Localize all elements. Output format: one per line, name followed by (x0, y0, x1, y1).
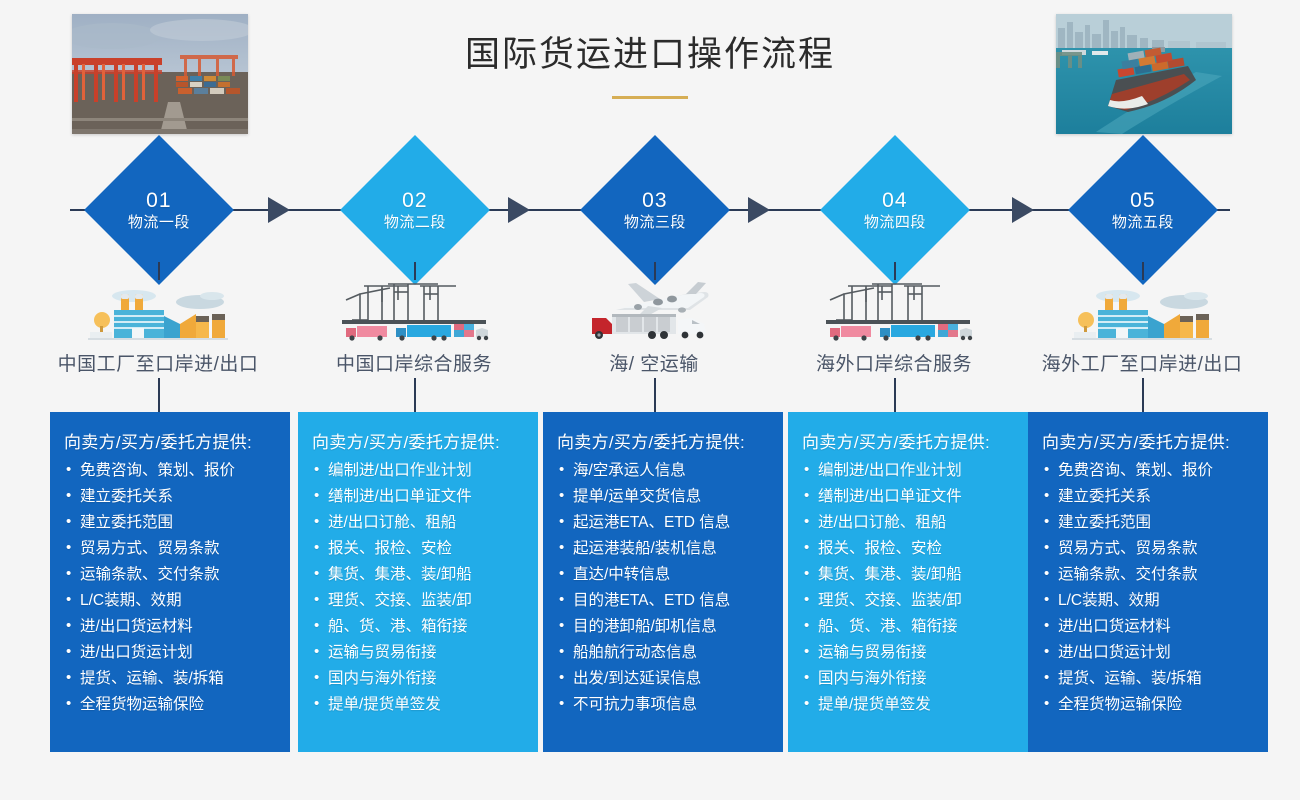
stem-lower-04 (894, 378, 896, 412)
stage-segment: 物流五段 (1112, 214, 1174, 232)
stage-segment: 物流二段 (384, 214, 446, 232)
list-item: 编制进/出口作业计划 (802, 463, 1016, 479)
factory-icon (1072, 280, 1212, 342)
header: 国际货运进口操作流程 (0, 0, 1300, 150)
factory-icon (88, 280, 228, 342)
list-item: 报关、报检、安检 (802, 541, 1016, 557)
list-item: 直达/中转信息 (557, 567, 771, 583)
detail-panel-04[interactable]: 向卖方/买方/委托方提供: 编制进/出口作业计划 缮制进/出口单证文件 进/出口… (788, 412, 1028, 752)
stage-segment: 物流一段 (128, 214, 190, 232)
list-item: 进/出口订舱、租船 (802, 515, 1016, 531)
panel-list: 免费咨询、策划、报价 建立委托关系 建立委托范围 贸易方式、贸易条款 运输条款、… (1042, 463, 1256, 713)
stage-icon-03 (574, 276, 734, 342)
panel-list: 海/空承运人信息 提单/运单交货信息 起运港ETA、ETD 信息 起运港装船/装… (557, 463, 771, 713)
list-item: 不可抗力事项信息 (557, 697, 771, 713)
list-item: 贸易方式、贸易条款 (1042, 541, 1256, 557)
list-item: 进/出口货运计划 (64, 645, 278, 661)
list-item: 全程货物运输保险 (64, 697, 278, 713)
list-item: 目的港ETA、ETD 信息 (557, 593, 771, 609)
list-item: 进/出口货运材料 (64, 619, 278, 635)
flow-arrow-2 (508, 197, 530, 223)
stage-number: 03 (624, 189, 686, 214)
port-crane-truck-icon (338, 280, 490, 342)
stage-number: 02 (384, 189, 446, 214)
stage-label-04: 海外口岸综合服务 (769, 349, 1019, 376)
stem-lower-01 (158, 378, 160, 412)
list-item: 船、货、港、箱衔接 (312, 619, 526, 635)
list-item: 集货、集港、装/卸船 (312, 567, 526, 583)
container-ship-at-sea-photo (1056, 14, 1232, 134)
list-item: 进/出口订舱、租船 (312, 515, 526, 531)
panel-heading: 向卖方/买方/委托方提供: (64, 428, 278, 453)
detail-panel-02[interactable]: 向卖方/买方/委托方提供: 编制进/出口作业计划 缮制进/出口单证文件 进/出口… (298, 412, 538, 752)
list-item: 编制进/出口作业计划 (312, 463, 526, 479)
stem-lower-02 (414, 378, 416, 412)
stage-label-01: 中国工厂至口岸进/出口 (33, 349, 283, 376)
diamond-inner: 04 物流四段 (864, 189, 926, 231)
stage-label-03: 海/ 空运输 (529, 349, 779, 376)
stage-icon-04 (818, 276, 978, 342)
list-item: 缮制进/出口单证文件 (312, 489, 526, 505)
detail-panel-01[interactable]: 向卖方/买方/委托方提供: 免费咨询、策划、报价 建立委托关系 建立委托范围 贸… (50, 412, 290, 752)
list-item: 起运港装船/装机信息 (557, 541, 771, 557)
panel-list: 编制进/出口作业计划 缮制进/出口单证文件 进/出口订舱、租船 报关、报检、安检… (312, 463, 526, 713)
list-item: 贸易方式、贸易条款 (64, 541, 278, 557)
stage-number: 01 (128, 189, 190, 214)
panel-list: 免费咨询、策划、报价 建立委托关系 建立委托范围 贸易方式、贸易条款 运输条款、… (64, 463, 278, 713)
list-item: 理货、交接、监装/卸 (312, 593, 526, 609)
stage-label-02: 中国口岸综合服务 (289, 349, 539, 376)
timeline: 01 物流一段 02 物流二段 03 物流三段 04 物流四段 05 物流五段 (0, 150, 1300, 270)
stage-number: 05 (1112, 189, 1174, 214)
list-item: 起运港ETA、ETD 信息 (557, 515, 771, 531)
list-item: 出发/到达延误信息 (557, 671, 771, 687)
list-item: 建立委托范围 (64, 515, 278, 531)
detail-panel-05[interactable]: 向卖方/买方/委托方提供: 免费咨询、策划、报价 建立委托关系 建立委托范围 贸… (1028, 412, 1268, 752)
list-item: L/C装期、效期 (64, 593, 278, 609)
diamond-inner: 01 物流一段 (128, 189, 190, 231)
airplane-truck-icon (586, 280, 722, 342)
flow-arrow-4 (1012, 197, 1034, 223)
list-item: 免费咨询、策划、报价 (64, 463, 278, 479)
flow-arrow-1 (268, 197, 290, 223)
list-item: 建立委托关系 (1042, 489, 1256, 505)
list-item: 提货、运输、装/拆箱 (64, 671, 278, 687)
list-item: 进/出口货运材料 (1042, 619, 1256, 635)
list-item: 提单/运单交货信息 (557, 489, 771, 505)
ship-photo-art (1056, 14, 1232, 134)
list-item: 提单/提货单签发 (802, 697, 1016, 713)
list-item: 国内与海外衔接 (802, 671, 1016, 687)
panel-heading: 向卖方/买方/委托方提供: (802, 428, 1016, 453)
diamond-inner: 03 物流三段 (624, 189, 686, 231)
list-item: 运输与贸易衔接 (312, 645, 526, 661)
list-item: L/C装期、效期 (1042, 593, 1256, 609)
stage-icon-05 (1062, 276, 1222, 342)
stem-lower-03 (654, 378, 656, 412)
port-crane-truck-icon (822, 280, 974, 342)
list-item: 报关、报检、安检 (312, 541, 526, 557)
list-item: 免费咨询、策划、报价 (1042, 463, 1256, 479)
panel-heading: 向卖方/买方/委托方提供: (312, 428, 526, 453)
stage-icon-02 (334, 276, 494, 342)
list-item: 理货、交接、监装/卸 (802, 593, 1016, 609)
detail-panel-03[interactable]: 向卖方/买方/委托方提供: 海/空承运人信息 提单/运单交货信息 起运港ETA、… (543, 412, 783, 752)
list-item: 目的港卸船/卸机信息 (557, 619, 771, 635)
list-item: 船、货、港、箱衔接 (802, 619, 1016, 635)
list-item: 国内与海外衔接 (312, 671, 526, 687)
panel-list: 编制进/出口作业计划 缮制进/出口单证文件 进/出口订舱、租船 报关、报检、安检… (802, 463, 1016, 713)
list-item: 运输条款、交付条款 (1042, 567, 1256, 583)
list-item: 运输条款、交付条款 (64, 567, 278, 583)
stem-lower-05 (1142, 378, 1144, 412)
flow-arrow-3 (748, 197, 770, 223)
list-item: 海/空承运人信息 (557, 463, 771, 479)
list-item: 全程货物运输保险 (1042, 697, 1256, 713)
stage-number: 04 (864, 189, 926, 214)
list-item: 运输与贸易衔接 (802, 645, 1016, 661)
panel-heading: 向卖方/买方/委托方提供: (557, 428, 771, 453)
panel-heading: 向卖方/买方/委托方提供: (1042, 428, 1256, 453)
stage-label-05: 海外工厂至口岸进/出口 (1017, 349, 1267, 376)
list-item: 缮制进/出口单证文件 (802, 489, 1016, 505)
diamond-inner: 05 物流五段 (1112, 189, 1174, 231)
list-item: 进/出口货运计划 (1042, 645, 1256, 661)
list-item: 提货、运输、装/拆箱 (1042, 671, 1256, 687)
diamond-inner: 02 物流二段 (384, 189, 446, 231)
list-item: 建立委托范围 (1042, 515, 1256, 531)
stage-icon-01 (78, 276, 238, 342)
list-item: 建立委托关系 (64, 489, 278, 505)
list-item: 集货、集港、装/卸船 (802, 567, 1016, 583)
title-underline (612, 96, 688, 99)
stage-segment: 物流四段 (864, 214, 926, 232)
stage-segment: 物流三段 (624, 214, 686, 232)
list-item: 提单/提货单签发 (312, 697, 526, 713)
list-item: 船舶航行动态信息 (557, 645, 771, 661)
